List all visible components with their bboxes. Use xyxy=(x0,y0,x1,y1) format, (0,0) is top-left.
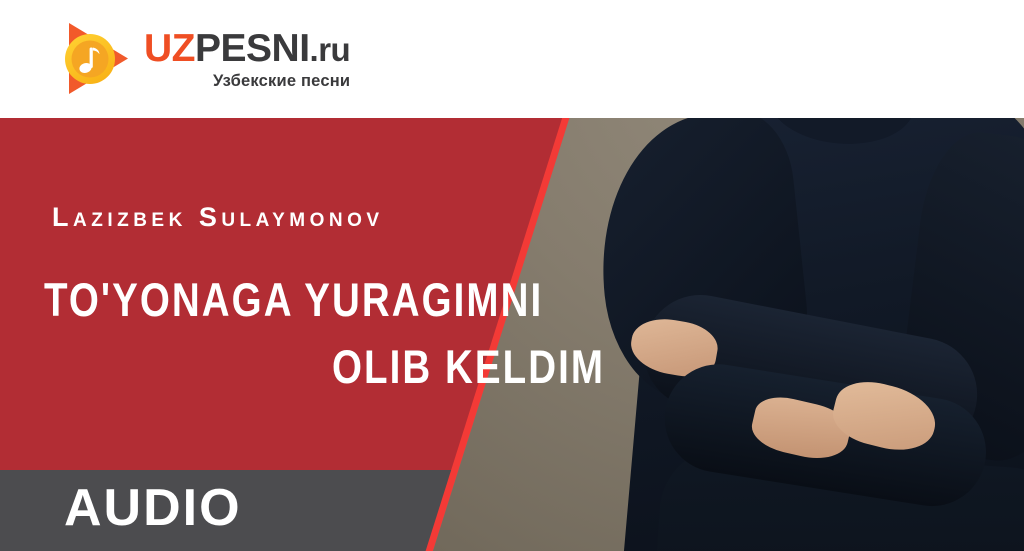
artist-name: Lazizbek Sulaymonov xyxy=(52,202,620,233)
header-strip: UZPESNI.ru Узбекские песни xyxy=(0,0,1024,118)
logo-wordmark-uz: UZ xyxy=(144,27,195,70)
format-badge: AUDIO xyxy=(64,482,242,534)
logo-tagline: Узбекские песни xyxy=(213,73,350,90)
logo-text-group: UZPESNI.ru Узбекские песни xyxy=(144,29,350,90)
play-music-note-icon xyxy=(56,18,138,100)
site-logo[interactable]: UZPESNI.ru Узбекские песни xyxy=(56,16,350,102)
audio-cover-banner: UZPESNI.ru Узбекские песни Lazizbek Sula… xyxy=(0,0,1024,551)
song-title: To'yonaga yuragimni olib keldim xyxy=(0,275,620,392)
logo-wordmark: UZPESNI.ru xyxy=(144,29,350,68)
song-title-line-1: To'yonaga yuragimni xyxy=(44,275,516,324)
title-block: Lazizbek Sulaymonov To'yonaga yuragimni … xyxy=(0,118,620,392)
song-title-line-2: olib keldim xyxy=(332,342,568,391)
logo-wordmark-tld: .ru xyxy=(310,31,351,68)
logo-wordmark-pesni: PESNI xyxy=(195,27,310,70)
